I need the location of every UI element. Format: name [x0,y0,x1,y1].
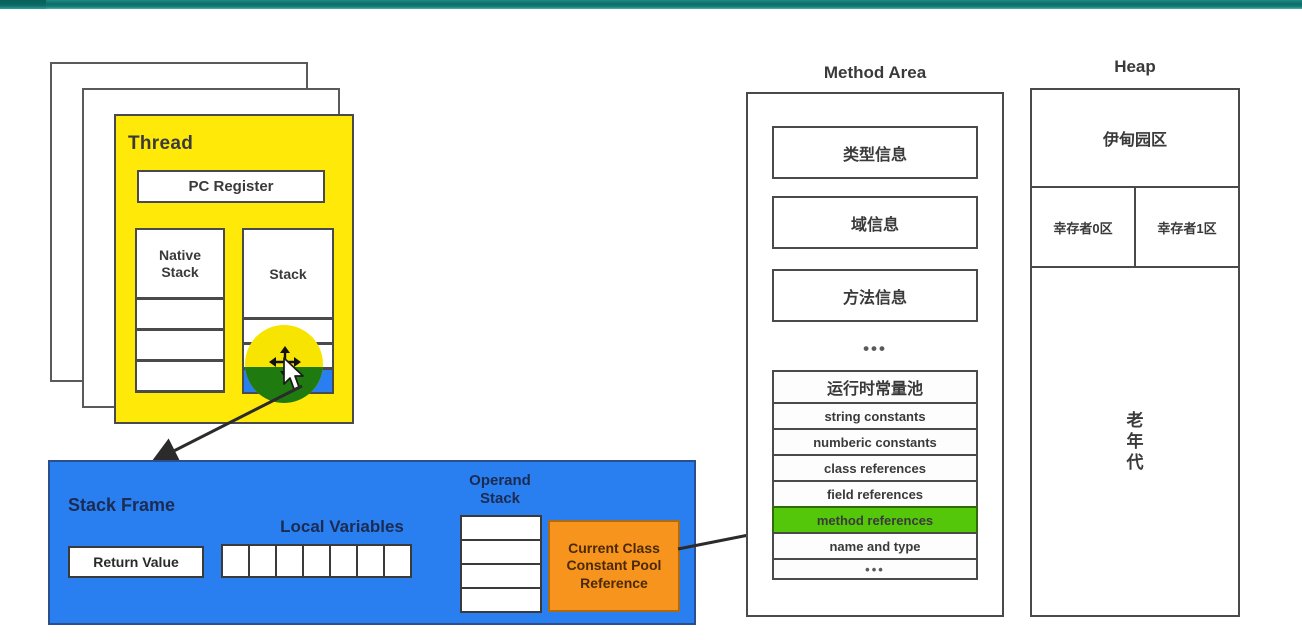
local-variable-slot[interactable] [248,544,277,578]
heap-old-generation-label: 老 年 代 [1030,266,1240,617]
native-stack-label: Native Stack [135,228,225,299]
top-teal-strip [0,0,1302,9]
runtime-constant-pool-header: 运行时常量池 [772,370,978,404]
local-variable-slot[interactable] [383,544,412,578]
constant-pool-row-numberic-constants[interactable]: numberic constants [772,428,978,456]
method-area-section-label: 方法信息 [772,269,978,322]
heap-survivor-0-label: 幸存者0区 [1030,186,1136,268]
current-class-constant-pool-reference-label: Current Class Constant Pool Reference [548,520,680,612]
constant-pool-row-string-constants[interactable]: string constants [772,402,978,430]
operand-stack-title-line2: Stack [480,490,520,508]
local-variable-slot[interactable] [329,544,358,578]
ccpr-line2: Constant Pool [567,557,662,575]
top-strip-left-cap [0,0,46,9]
ccpr-line3: Reference [580,575,648,593]
constant-pool-row-name-and-type[interactable]: name and type [772,532,978,560]
local-variables-title: Local Variables [252,516,432,538]
thread-title: Thread [128,131,248,157]
constant-pool-row-ellipsis: ••• [772,558,978,580]
method-area-ellipsis: ••• [772,338,978,360]
operand-stack-slot[interactable] [460,539,542,565]
pc-register-label: PC Register [137,170,325,203]
native-stack-label-line2: Stack [161,264,198,280]
operand-stack-slot[interactable] [460,515,542,541]
stack-frame-title: Stack Frame [68,492,248,518]
heap-title: Heap [1080,54,1190,80]
operand-stack-title: Operand Stack [452,470,548,510]
method-area-title: Method Area [790,60,960,86]
method-area-section-label: 域信息 [772,196,978,249]
native-stack-label-line1: Native [159,247,201,263]
heap-eden-label: 伊甸园区 [1030,88,1240,188]
native-stack-cell [135,329,225,361]
old-gen-char-1: 老 [1127,410,1144,431]
stack-label: Stack [242,228,334,319]
local-variable-slot[interactable] [221,544,250,578]
local-variable-slot[interactable] [302,544,331,578]
constant-pool-row-class-references[interactable]: class references [772,454,978,482]
old-gen-char-2: 年 [1127,431,1144,452]
stack-cell [242,318,334,344]
heap-survivor-1-label: 幸存者1区 [1134,186,1240,268]
local-variable-slot[interactable] [356,544,385,578]
constant-pool-row-method-references[interactable]: method references [772,506,978,534]
return-value-label: Return Value [68,546,204,578]
operand-stack-slot[interactable] [460,563,542,589]
method-area-section-label: 类型信息 [772,126,978,179]
constant-pool-row-field-references[interactable]: field references [772,480,978,508]
native-stack-cell [135,298,225,330]
old-gen-char-3: 代 [1127,452,1144,473]
operand-stack-title-line1: Operand [469,472,531,490]
operand-stack-column [460,515,542,611]
local-variable-slot[interactable] [275,544,304,578]
ccpr-line1: Current Class [568,540,660,558]
local-variables-row [221,544,410,578]
runtime-constant-pool-group: 运行时常量池 string constants numberic constan… [772,370,978,578]
operand-stack-slot[interactable] [460,587,542,613]
